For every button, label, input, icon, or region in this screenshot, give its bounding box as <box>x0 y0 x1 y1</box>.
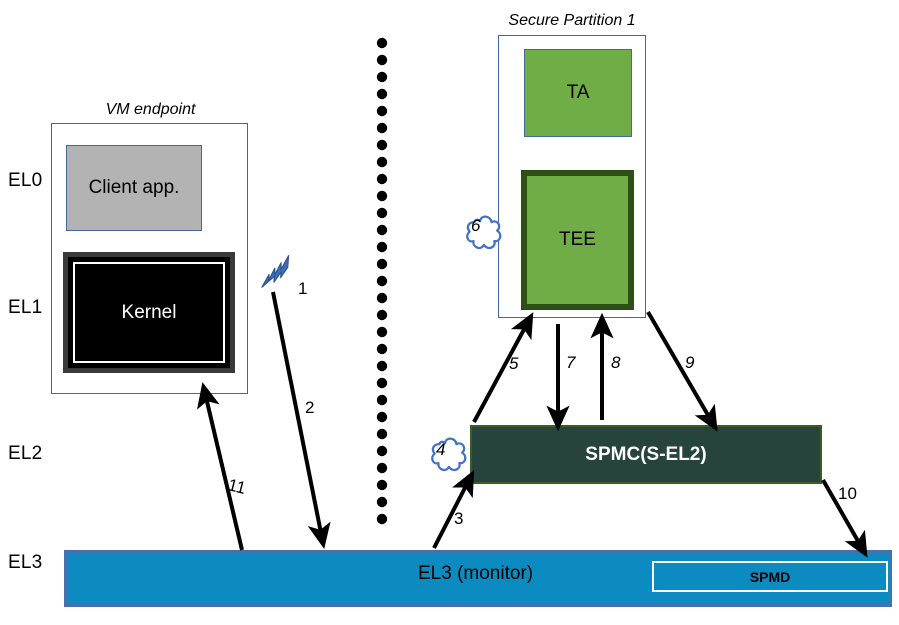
step-label-10: 10 <box>838 484 857 504</box>
group-title-vm-endpoint: VM endpoint <box>52 101 249 119</box>
kernel-inner-frame: Kernel <box>73 262 225 363</box>
spmd-block[interactable]: SPMD <box>652 561 888 592</box>
arrow-step-5 <box>474 322 528 422</box>
tee-block[interactable]: TEE <box>521 170 634 310</box>
step-label-1: 1 <box>298 279 307 299</box>
el3-monitor-label: EL3 (monitor) <box>418 563 533 585</box>
el-label-el2: EL2 <box>8 443 42 465</box>
spmc-block[interactable]: SPMC(S-EL2) <box>470 425 822 484</box>
el-label-el3: EL3 <box>8 552 42 574</box>
el-label-el1: EL1 <box>8 297 42 319</box>
group-title-secure-partition: Secure Partition 1 <box>498 12 646 30</box>
arrow-step-9 <box>648 312 712 422</box>
lightning-bolt-icon <box>255 256 297 288</box>
step-label-5: 5 <box>509 354 518 374</box>
step-label-4: 4 <box>436 440 445 460</box>
client-app-block[interactable]: Client app. <box>66 145 202 231</box>
step-label-11: 11 <box>226 475 248 499</box>
arrow-step-2 <box>273 292 322 538</box>
arrow-step-11 <box>205 393 242 550</box>
arrow-step-3 <box>434 480 469 548</box>
diagram-canvas: EL0 EL1 EL2 EL3 VM endpoint Secure Parti… <box>0 0 899 625</box>
step-label-2: 2 <box>305 398 314 418</box>
el-label-el0: EL0 <box>8 170 42 192</box>
step-label-7: 7 <box>566 353 575 373</box>
step-label-9: 9 <box>685 353 694 373</box>
ta-block[interactable]: TA <box>524 49 632 137</box>
step-label-8: 8 <box>611 353 620 373</box>
kernel-block[interactable]: Kernel <box>63 252 235 373</box>
step-label-3: 3 <box>454 509 463 529</box>
world-separator-dotted-line <box>377 38 387 524</box>
step-label-6: 6 <box>471 216 480 236</box>
